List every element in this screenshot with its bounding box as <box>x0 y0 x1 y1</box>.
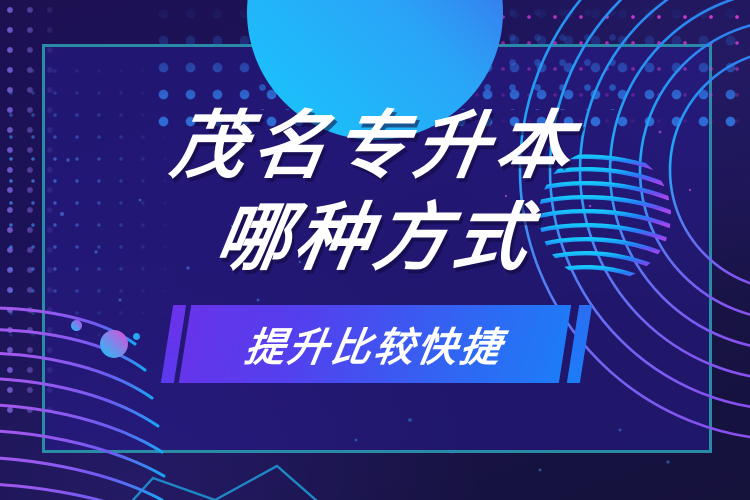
headline-block: 茂名专升本 哪种方式 <box>0 100 750 284</box>
subtitle-text: 提升比较快捷 <box>179 305 571 383</box>
subtitle-banner: 提升比较快捷 <box>0 305 750 383</box>
headline-line-2: 哪种方式 <box>0 192 750 284</box>
subtitle-tick-right <box>567 305 592 383</box>
headline-line-1: 茂名专升本 <box>0 100 750 192</box>
promo-banner: 茂名专升本 哪种方式 提升比较快捷 <box>0 0 750 500</box>
polygon-outline-decoration <box>95 452 325 500</box>
